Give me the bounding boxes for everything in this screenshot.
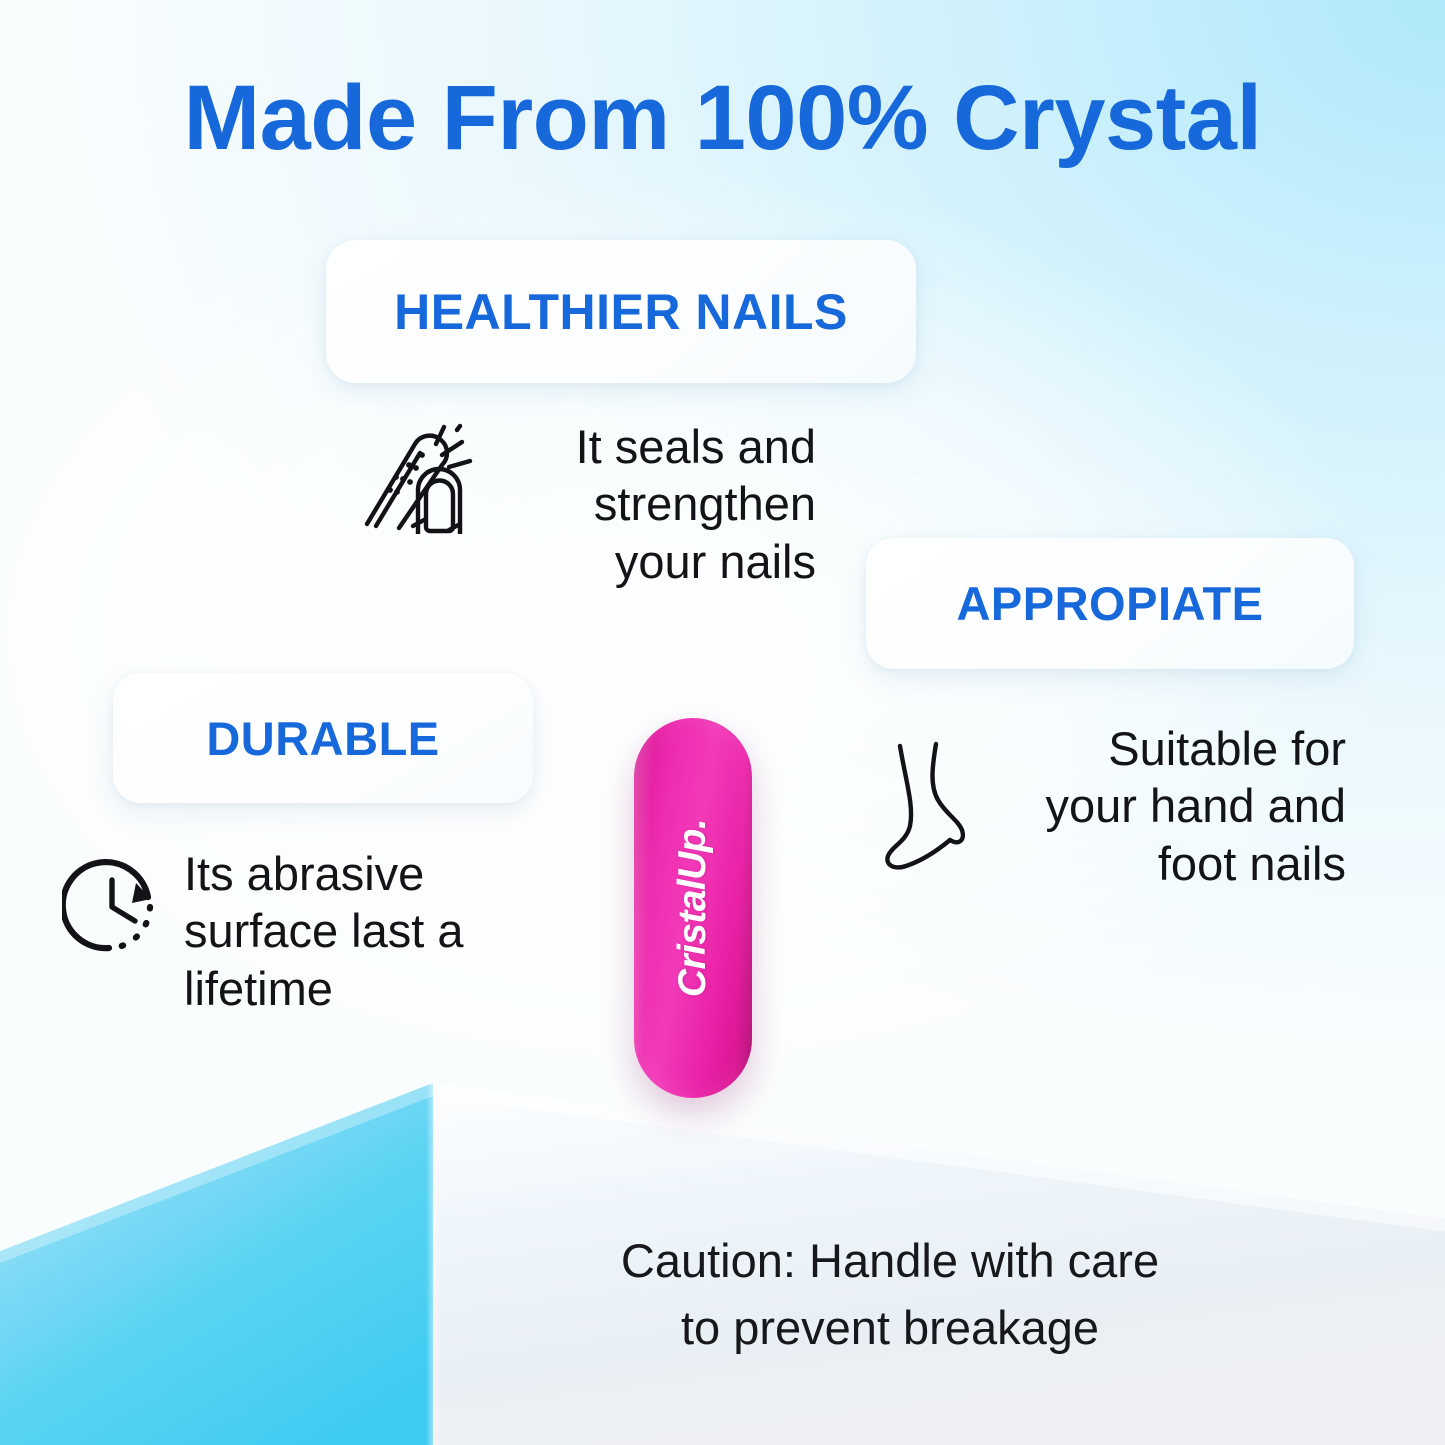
product-brand-label: CristalUp. <box>671 819 715 997</box>
caution-note: Caution: Handle with care to prevent bre… <box>540 1228 1240 1361</box>
badge-durable: DURABLE <box>113 673 533 803</box>
feature-seals-strengthen: It seals and strengthen your nails <box>356 418 816 590</box>
headline-part-light: Made From <box>183 67 694 169</box>
caution-line-1: Caution: Handle with care <box>540 1228 1240 1295</box>
clock-rotate-icon <box>62 855 162 960</box>
feature-hand-foot-nails: Suitable for your hand and foot nails <box>876 720 1346 892</box>
foot-outline-icon <box>876 734 994 879</box>
badge-appropiate-label: APPROPIATE <box>956 576 1263 631</box>
feature-abrasive-lifetime: Its abrasive surface last a lifetime <box>62 845 492 1017</box>
badge-healthier-nails: HEALTHIER NAILS <box>326 240 916 383</box>
page-title: Made From 100% Crystal <box>0 72 1445 164</box>
nail-file-filing-icon <box>356 422 474 539</box>
feature-durable-text: Its abrasive surface last a lifetime <box>184 845 492 1017</box>
badge-durable-label: DURABLE <box>206 711 439 766</box>
badge-healthier-nails-label: HEALTHIER NAILS <box>394 283 848 341</box>
product-infographic: Made From 100% Crystal HEALTHIER NAILS A… <box>0 0 1445 1445</box>
badge-appropiate: APPROPIATE <box>866 538 1354 669</box>
caution-line-2: to prevent breakage <box>540 1295 1240 1362</box>
feature-seals-text: It seals and strengthen your nails <box>496 418 816 590</box>
headline-part-bold: 100% Crystal <box>695 67 1262 169</box>
product-nail-file: CristalUp. <box>634 718 752 1098</box>
feature-foot-text: Suitable for your hand and foot nails <box>1016 720 1346 892</box>
